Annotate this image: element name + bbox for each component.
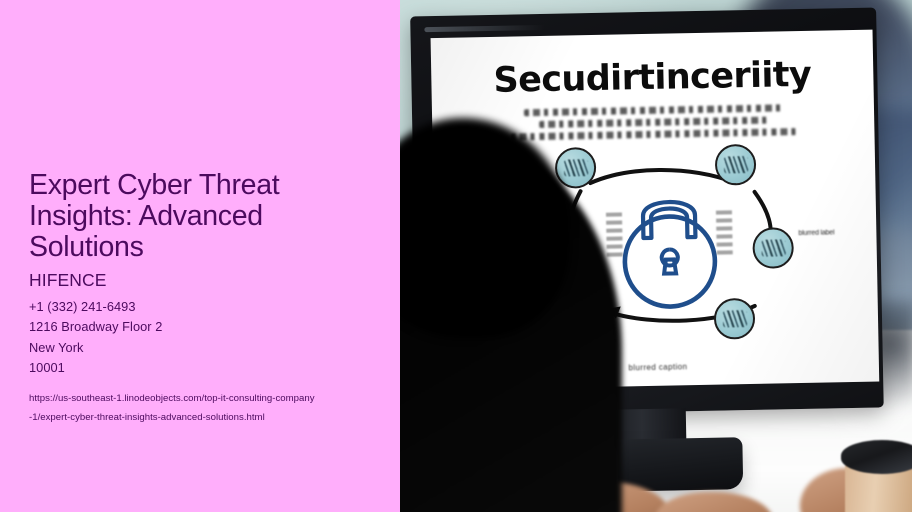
phone-number: +1 (332) 241-6493	[29, 297, 374, 317]
coffee-cup-lid	[841, 440, 912, 474]
slide-title: Secudirtinceriity	[445, 54, 860, 102]
source-url[interactable]: https://us-southeast-1.linodeobjects.com…	[29, 389, 374, 427]
text-block: Expert Cyber Threat Insights: Advanced S…	[29, 170, 374, 427]
company-name: HIFENCE	[29, 270, 374, 292]
source-url-line-2: -1/expert-cyber-threat-insights-advanced…	[29, 408, 374, 427]
poster-page: Expert Cyber Threat Insights: Advanced S…	[0, 0, 912, 512]
bezel-highlight	[424, 25, 544, 32]
slide-subtitle-line-3	[510, 128, 796, 140]
diagram-label-right: blurred label	[798, 227, 879, 239]
diagram-side-marks-left	[606, 212, 623, 256]
slide-subtitle-line-2	[539, 117, 767, 128]
slide-subtitle-line-1	[524, 104, 782, 116]
left-text-panel: Expert Cyber Threat Insights: Advanced S…	[0, 0, 400, 512]
address-street: 1216 Broadway Floor 2	[29, 317, 374, 337]
page-title: Expert Cyber Threat Insights: Advanced S…	[29, 170, 339, 263]
diagram-side-marks-right	[716, 210, 733, 254]
diagram-node-bottom-right	[714, 298, 756, 340]
node-glyph-icon	[723, 156, 747, 173]
node-glyph-icon	[563, 159, 587, 176]
slide-subtitle	[503, 104, 804, 141]
hero-photo: Secudirtinceriity	[400, 0, 912, 512]
source-url-line-1: https://us-southeast-1.linodeobjects.com…	[29, 389, 374, 408]
address-zip: 10001	[29, 358, 374, 378]
node-glyph-icon	[722, 310, 746, 327]
address-city: New York	[29, 338, 374, 358]
node-glyph-icon	[761, 239, 785, 256]
